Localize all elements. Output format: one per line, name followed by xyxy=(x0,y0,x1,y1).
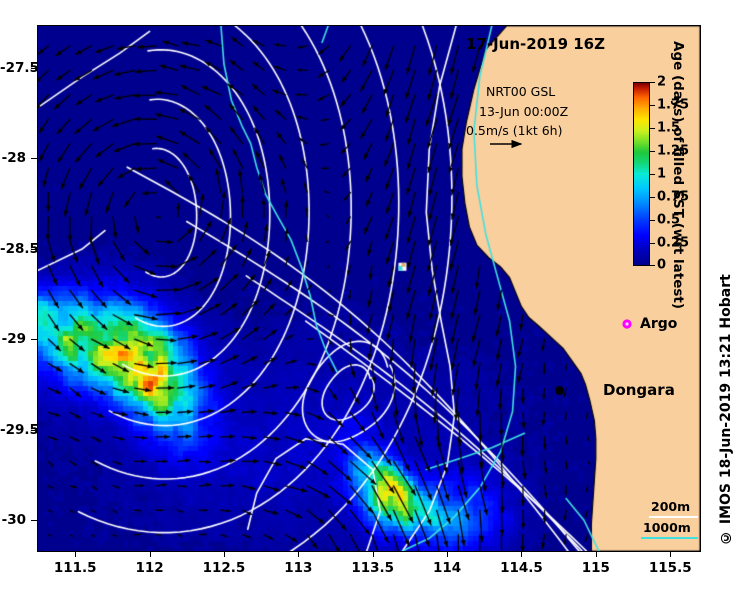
dongara-label: Dongara xyxy=(603,381,675,399)
x-tick-mark xyxy=(447,551,448,557)
colorbar-tick-mark xyxy=(650,197,655,198)
y-tick-mark xyxy=(31,339,37,340)
y-tick-mark xyxy=(31,158,37,159)
map-title: 17-Jun-2019 16Z xyxy=(466,35,605,53)
depth-200m-swatch xyxy=(649,516,698,518)
map-plot-area[interactable]: 17-Jun-2019 16Z NRT00 GSL 13-Jun 00:00Z … xyxy=(37,25,701,552)
colorbar-tick-label: 0 xyxy=(657,258,666,273)
y-tick-label: -30 xyxy=(0,512,26,528)
colorbar-gradient xyxy=(633,82,650,266)
x-tick-label: 113 xyxy=(284,560,312,576)
depth-200m-label: 200m xyxy=(651,499,690,514)
colorbar-tick-mark xyxy=(650,82,655,83)
x-tick-mark xyxy=(670,551,671,557)
x-tick-label: 114 xyxy=(433,560,461,576)
credit-text: © IMOS 18-Jun-2019 13:21 Hobart xyxy=(716,275,736,545)
x-tick-mark xyxy=(298,551,299,557)
colorbar-tick-mark xyxy=(650,151,655,152)
y-tick-label: -28.5 xyxy=(0,241,26,257)
x-tick-label: 112.5 xyxy=(203,560,246,576)
x-tick-mark xyxy=(373,551,374,557)
colorbar-title: Age (days) of filled SST (wrt latest) xyxy=(669,70,687,280)
argo-legend-label: Argo xyxy=(640,316,677,332)
x-tick-mark xyxy=(596,551,597,557)
y-tick-label: -28 xyxy=(0,150,26,166)
colorbar-tick-mark xyxy=(650,174,655,175)
colorbar-tick-mark xyxy=(650,265,655,266)
colorbar-tick-mark xyxy=(650,243,655,244)
x-tick-mark xyxy=(75,551,76,557)
y-tick-label: -29.5 xyxy=(0,422,26,438)
annotation-model: NRT00 GSL xyxy=(486,84,555,99)
depth-1000m-label: 1000m xyxy=(643,520,691,535)
y-tick-mark xyxy=(31,520,37,521)
colorbar-tick-mark xyxy=(650,105,655,106)
annotation-date: 13-Jun 00:00Z xyxy=(479,104,568,119)
x-tick-label: 113.5 xyxy=(351,560,394,576)
x-tick-label: 115 xyxy=(582,560,610,576)
y-tick-label: -27.5 xyxy=(0,60,26,76)
colorbar-tick-label: 1 xyxy=(657,167,666,182)
depth-1000m-swatch xyxy=(641,537,698,539)
sst-age-map-figure: 17-Jun-2019 16Z NRT00 GSL 13-Jun 00:00Z … xyxy=(0,0,739,592)
colorbar-tick-mark xyxy=(650,220,655,221)
x-tick-label: 111.5 xyxy=(54,560,97,576)
x-tick-mark xyxy=(224,551,225,557)
x-tick-label: 115.5 xyxy=(649,560,692,576)
annotation-velocity-scale: 0.5m/s (1kt 6h) xyxy=(466,123,562,138)
x-tick-mark xyxy=(150,551,151,557)
colorbar-tick-mark xyxy=(650,128,655,129)
x-tick-label: 114.5 xyxy=(500,560,543,576)
y-tick-label: -29 xyxy=(0,331,26,347)
dongara-city-dot xyxy=(555,386,564,395)
colorbar-tick-label: 2 xyxy=(657,75,666,90)
x-tick-label: 112 xyxy=(135,560,163,576)
x-tick-mark xyxy=(521,551,522,557)
contour-and-vector-overlay xyxy=(38,26,700,551)
